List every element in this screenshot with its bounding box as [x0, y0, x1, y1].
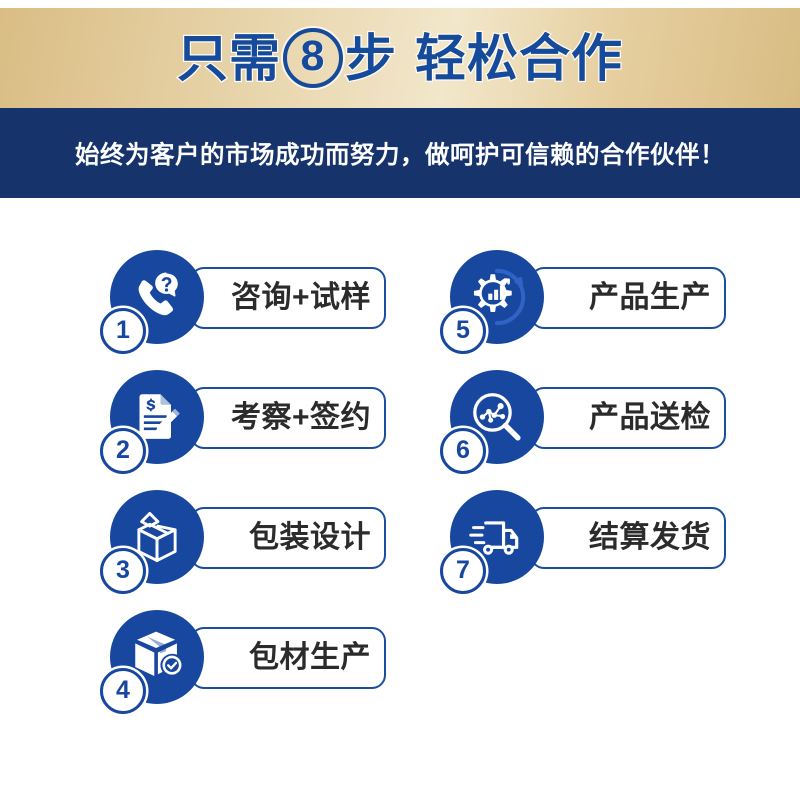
steps-container: 咨询+试样 1: [0, 198, 800, 795]
step-number-badge-7: 7: [440, 548, 486, 594]
page-title: 只需 8 步 轻松合作: [177, 28, 623, 88]
step-label-6: 产品送检: [589, 403, 711, 433]
step-item-6[interactable]: 产品送检: [440, 370, 740, 474]
step-item-5[interactable]: 产品生产 5: [440, 250, 740, 354]
step-label-pill-2: 考察+签约: [190, 387, 386, 449]
step-number-4: 4: [116, 678, 130, 704]
step-number-badge-4: 4: [100, 668, 146, 714]
step-number-3: 3: [116, 558, 130, 584]
step-number-7: 7: [456, 558, 470, 584]
step-item-3[interactable]: 包装设计 3: [100, 490, 400, 594]
header-navy-banner: 始终为客户的市场成功而努力，做呵护可信赖的合作伙伴！: [0, 108, 800, 198]
step-number-badge-6: 6: [440, 428, 486, 474]
page-subtitle: 始终为客户的市场成功而努力，做呵护可信赖的合作伙伴！: [75, 136, 725, 171]
step-number-badge-5: 5: [440, 308, 486, 354]
step-number-badge-2: 2: [100, 428, 146, 474]
page-root: 只需 8 步 轻松合作 始终为客户的市场成功而努力，做呵护可信赖的合作伙伴！ 咨…: [0, 0, 800, 795]
title-circled-number: 8: [283, 28, 343, 88]
step-number-6: 6: [456, 438, 470, 464]
step-item-2[interactable]: 考察+签约: [100, 370, 400, 474]
step-number-badge-3: 3: [100, 548, 146, 594]
title-part-3: 轻松合作: [415, 33, 623, 84]
header-gold-banner: 只需 8 步 轻松合作: [0, 8, 800, 108]
step-number-5: 5: [456, 318, 470, 344]
step-label-1: 咨询+试样: [231, 283, 371, 313]
step-label-pill-5: 产品生产: [530, 267, 726, 329]
step-label-5: 产品生产: [589, 283, 711, 313]
step-label-2: 考察+签约: [231, 403, 371, 433]
step-label-pill-1: 咨询+试样: [190, 267, 386, 329]
step-label-7: 结算发货: [589, 523, 711, 553]
title-part-1: 只需: [177, 33, 281, 84]
step-item-1[interactable]: 咨询+试样 1: [100, 250, 400, 354]
step-number-2: 2: [116, 438, 130, 464]
step-item-7[interactable]: 结算发货: [440, 490, 740, 594]
step-item-4[interactable]: 包材生产 4: [100, 610, 400, 714]
title-part-2: 步: [345, 33, 397, 84]
step-number-1: 1: [116, 318, 130, 344]
step-label-4: 包材生产: [249, 643, 371, 673]
step-number-badge-1: 1: [100, 308, 146, 354]
step-label-pill-6: 产品送检: [530, 387, 726, 449]
step-label-pill-3: 包装设计: [190, 507, 386, 569]
step-label-pill-4: 包材生产: [190, 627, 386, 689]
step-label-pill-7: 结算发货: [530, 507, 726, 569]
step-label-3: 包装设计: [249, 523, 371, 553]
